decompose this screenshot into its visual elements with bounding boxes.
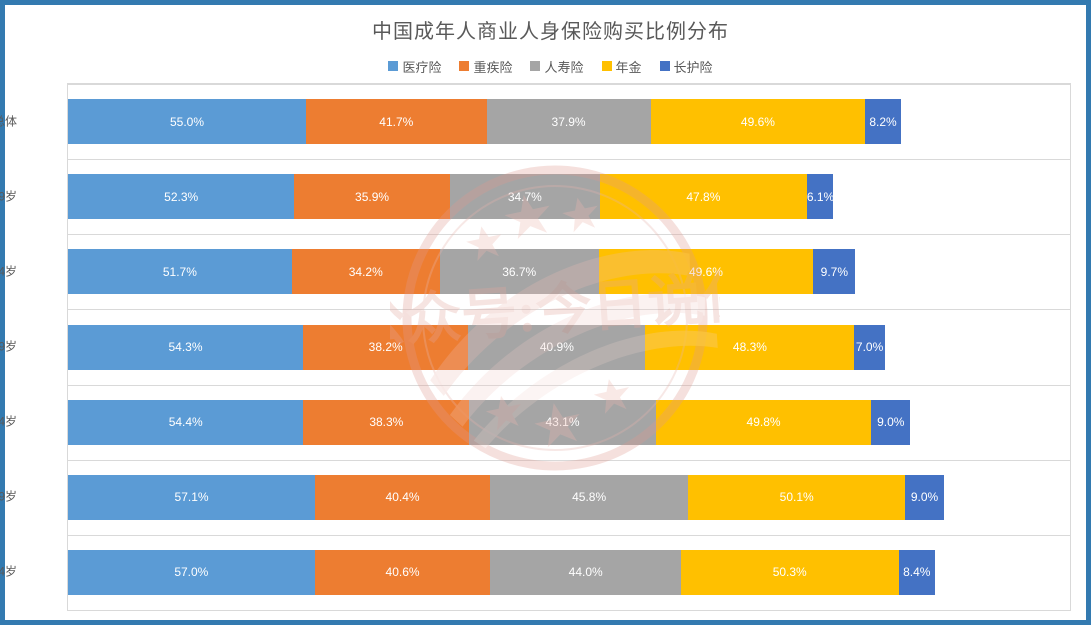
bar-row: 51.7%34.2%36.7%49.6%9.7% <box>68 249 1070 294</box>
bar-value-label: 35.9% <box>294 190 449 204</box>
bar-segment[interactable]: 40.6% <box>315 550 491 595</box>
bar-row: 52.3%35.9%34.7%47.8%6.1% <box>68 174 1070 219</box>
category-label: 35-39岁 <box>0 488 17 505</box>
legend-swatch-icon <box>602 61 612 71</box>
bar-value-label: 49.6% <box>651 115 866 129</box>
bar-segment[interactable]: 54.3% <box>68 325 303 370</box>
bar-value-label: 51.7% <box>68 265 292 279</box>
bar-segment[interactable]: 38.3% <box>303 400 469 445</box>
category-label: 50-54岁 <box>0 262 17 279</box>
bar-segment[interactable]: 35.9% <box>294 174 449 219</box>
bar-value-label: 44.0% <box>490 565 680 579</box>
bar-segment[interactable]: 40.9% <box>468 325 645 370</box>
bar-row: 54.4%38.3%43.1%49.8%9.0% <box>68 400 1070 445</box>
bar-segment[interactable]: 34.2% <box>292 249 440 294</box>
bar-value-label: 57.0% <box>68 565 315 579</box>
bar-segment[interactable]: 40.4% <box>315 475 490 520</box>
bar-rows: 55.0%41.7%37.9%49.6%8.2%52.3%35.9%34.7%4… <box>68 84 1070 610</box>
bar-segment[interactable]: 8.2% <box>865 99 900 144</box>
bar-segment[interactable]: 51.7% <box>68 249 292 294</box>
bar-segment[interactable]: 43.1% <box>469 400 656 445</box>
bar-segment[interactable]: 44.0% <box>490 550 680 595</box>
legend-label: 人寿险 <box>544 57 583 76</box>
bar-value-label: 52.3% <box>68 190 294 204</box>
bar-segment[interactable]: 41.7% <box>306 99 486 144</box>
bar-value-label: 37.9% <box>487 115 651 129</box>
bar-value-label: 47.8% <box>600 190 807 204</box>
bar-segment[interactable]: 48.3% <box>645 325 854 370</box>
bar-segment[interactable]: 36.7% <box>440 249 599 294</box>
plot-area: 55.0%41.7%37.9%49.6%8.2%52.3%35.9%34.7%4… <box>67 83 1071 611</box>
bar-segment[interactable]: 49.8% <box>656 400 872 445</box>
bar-value-label: 43.1% <box>469 415 656 429</box>
category-label: 40-44岁 <box>0 413 17 430</box>
bar-value-label: 50.3% <box>681 565 899 579</box>
bar-value-label: 34.2% <box>292 265 440 279</box>
bar-value-label: 9.0% <box>905 490 944 504</box>
legend-swatch-icon <box>530 61 540 71</box>
bar-segment[interactable]: 49.6% <box>651 99 866 144</box>
bar-segment[interactable]: 57.0% <box>68 550 315 595</box>
category-label: 30-34岁 <box>0 563 17 580</box>
legend-item-3[interactable]: 年金 <box>602 57 642 76</box>
bar-segment[interactable]: 57.1% <box>68 475 315 520</box>
legend-swatch-icon <box>459 61 469 71</box>
bar-segment[interactable]: 52.3% <box>68 174 294 219</box>
legend-label: 长护险 <box>674 57 713 76</box>
bar-value-label: 49.8% <box>656 415 872 429</box>
chart-frame: 中国成年人商业人身保险购买比例分布 医疗险重疾险人寿险年金长护险 55.0%41… <box>0 0 1091 625</box>
gridline <box>68 610 1070 611</box>
legend-label: 医疗险 <box>402 57 441 76</box>
bar-segment[interactable]: 54.4% <box>68 400 303 445</box>
bar-value-label: 34.7% <box>450 190 600 204</box>
bar-row: 57.0%40.6%44.0%50.3%8.4% <box>68 550 1070 595</box>
bar-value-label: 8.2% <box>865 115 900 129</box>
bar-row: 55.0%41.7%37.9%49.6%8.2% <box>68 99 1070 144</box>
bar-segment[interactable]: 50.1% <box>688 475 905 520</box>
bar-segment[interactable]: 37.9% <box>487 99 651 144</box>
bar-value-label: 36.7% <box>440 265 599 279</box>
bar-value-label: 54.4% <box>68 415 303 429</box>
chart-title: 中国成年人商业人身保险购买比例分布 <box>5 15 1091 44</box>
category-label: 55-59岁 <box>0 187 17 204</box>
bar-value-label: 6.1% <box>807 190 833 204</box>
category-label: 45-49岁 <box>0 338 17 355</box>
bar-segment[interactable]: 45.8% <box>490 475 688 520</box>
bar-segment[interactable]: 9.0% <box>905 475 944 520</box>
bar-value-label: 9.0% <box>871 415 910 429</box>
bar-value-label: 8.4% <box>899 565 935 579</box>
bar-segment[interactable]: 9.0% <box>871 400 910 445</box>
bar-value-label: 7.0% <box>854 340 884 354</box>
bar-segment[interactable]: 34.7% <box>450 174 600 219</box>
chart-legend: 医疗险重疾险人寿险年金长护险 <box>5 57 1091 76</box>
legend-item-2[interactable]: 人寿险 <box>530 57 583 76</box>
bar-value-label: 40.6% <box>315 565 491 579</box>
bar-value-label: 57.1% <box>68 490 315 504</box>
bar-segment[interactable]: 47.8% <box>600 174 807 219</box>
legend-item-1[interactable]: 重疾险 <box>459 57 512 76</box>
bar-segment[interactable]: 50.3% <box>681 550 899 595</box>
bar-value-label: 40.4% <box>315 490 490 504</box>
legend-label: 重疾险 <box>473 57 512 76</box>
bar-value-label: 40.9% <box>468 340 645 354</box>
bar-segment[interactable]: 49.6% <box>599 249 814 294</box>
bar-segment[interactable]: 7.0% <box>854 325 884 370</box>
bar-value-label: 9.7% <box>813 265 855 279</box>
bar-value-label: 48.3% <box>645 340 854 354</box>
bar-value-label: 49.6% <box>599 265 814 279</box>
bar-value-label: 54.3% <box>68 340 303 354</box>
bar-value-label: 50.1% <box>688 490 905 504</box>
bar-value-label: 55.0% <box>68 115 306 129</box>
bar-value-label: 41.7% <box>306 115 486 129</box>
bar-segment[interactable]: 6.1% <box>807 174 833 219</box>
bar-segment[interactable]: 8.4% <box>899 550 935 595</box>
legend-item-4[interactable]: 长护险 <box>660 57 713 76</box>
category-label: 总体 <box>0 112 17 129</box>
bar-value-label: 38.2% <box>303 340 468 354</box>
bar-row: 54.3%38.2%40.9%48.3%7.0% <box>68 325 1070 370</box>
bar-value-label: 38.3% <box>303 415 469 429</box>
legend-swatch-icon <box>388 61 398 71</box>
legend-swatch-icon <box>660 61 670 71</box>
legend-label: 年金 <box>616 57 642 76</box>
bar-value-label: 45.8% <box>490 490 688 504</box>
bar-segment[interactable]: 38.2% <box>303 325 468 370</box>
bar-segment[interactable]: 9.7% <box>813 249 855 294</box>
legend-item-0[interactable]: 医疗险 <box>388 57 441 76</box>
bar-segment[interactable]: 55.0% <box>68 99 306 144</box>
bar-row: 57.1%40.4%45.8%50.1%9.0% <box>68 475 1070 520</box>
